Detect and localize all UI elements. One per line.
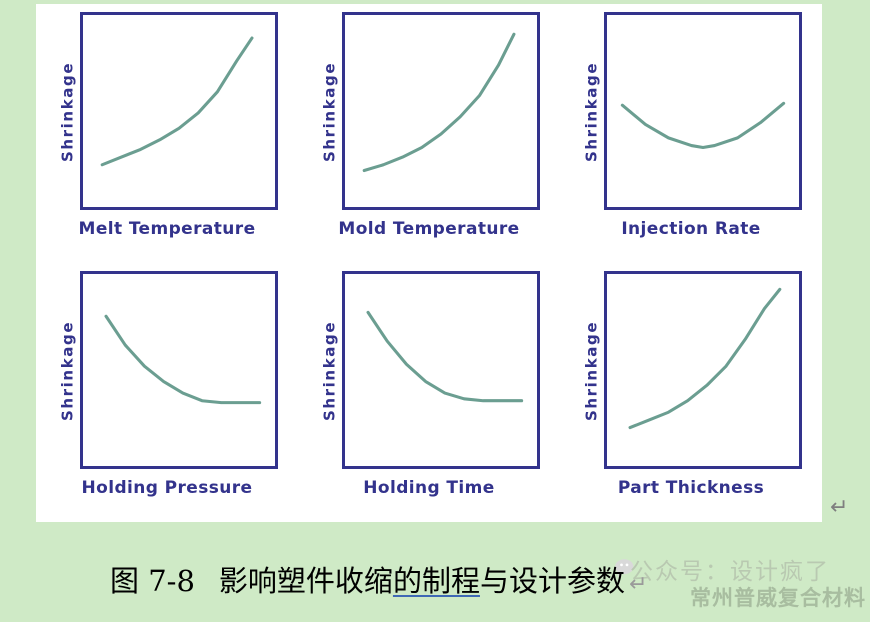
x-axis-label-injection-rate: Injection Rate xyxy=(621,219,760,239)
y-axis-label-shrinkage: Shrinkage xyxy=(56,271,80,471)
curve-decaying-plateau xyxy=(345,274,537,466)
curve-decaying-plateau xyxy=(83,274,275,466)
x-axis-label-mold-temperature: Mold Temperature xyxy=(338,219,519,239)
chart-panel-holding-pressure: Shrinkage Holding Pressure xyxy=(36,263,298,522)
panel-body: Shrinkage xyxy=(580,12,802,212)
x-axis-label-melt-temperature: Melt Temperature xyxy=(79,219,256,239)
plot-box-melt-temperature xyxy=(80,12,278,210)
panel-body: Shrinkage xyxy=(318,12,540,212)
curve-rising-exponential xyxy=(83,15,275,207)
chart-panel-melt-temperature: Shrinkage Melt Temperature xyxy=(36,4,298,263)
caption-pilcrow-icon: ↵ xyxy=(625,572,647,597)
plot-box-mold-temperature xyxy=(342,12,540,210)
caption-text-plain: 影响塑件收缩 xyxy=(219,564,393,598)
panel-body: Shrinkage xyxy=(318,271,540,471)
caption-text-underlined: 的制程 xyxy=(393,564,480,598)
caption-text-tail: 与设计参数 xyxy=(480,564,625,598)
paragraph-mark-icon: ↵ xyxy=(830,497,848,519)
y-axis-label-shrinkage: Shrinkage xyxy=(580,12,604,212)
curve-rising-exponential xyxy=(607,274,799,466)
plot-box-holding-time xyxy=(342,271,540,469)
curve-rising-exponential xyxy=(345,15,537,207)
plot-box-injection-rate xyxy=(604,12,802,210)
y-axis-label-shrinkage: Shrinkage xyxy=(56,12,80,212)
x-axis-label-holding-pressure: Holding Pressure xyxy=(82,478,253,498)
panel-body: Shrinkage xyxy=(580,271,802,471)
curve-u-shaped-minimum xyxy=(607,15,799,207)
y-axis-label-shrinkage: Shrinkage xyxy=(580,271,604,471)
x-axis-label-holding-time: Holding Time xyxy=(363,478,494,498)
chart-panel-holding-time: Shrinkage Holding Time xyxy=(298,263,560,522)
figure-image-plate: Shrinkage Melt Temperature Shrinkage xyxy=(36,4,822,522)
caption-figure-number: 图 7-8 xyxy=(110,564,195,598)
y-axis-label-shrinkage: Shrinkage xyxy=(318,12,342,212)
plot-box-part-thickness xyxy=(604,271,802,469)
panel-body: Shrinkage xyxy=(56,271,278,471)
chart-panel-injection-rate: Shrinkage Injection Rate xyxy=(560,4,822,263)
chart-panel-grid: Shrinkage Melt Temperature Shrinkage xyxy=(36,4,822,522)
x-axis-label-part-thickness: Part Thickness xyxy=(618,478,764,498)
plot-box-holding-pressure xyxy=(80,271,278,469)
panel-body: Shrinkage xyxy=(56,12,278,212)
figure-caption: 图 7-8影响塑件收缩的制程与设计参数↵ xyxy=(0,558,870,610)
y-axis-label-shrinkage: Shrinkage xyxy=(318,271,342,471)
chart-panel-mold-temperature: Shrinkage Mold Temperature xyxy=(298,4,560,263)
chart-panel-part-thickness: Shrinkage Part Thickness xyxy=(560,263,822,522)
